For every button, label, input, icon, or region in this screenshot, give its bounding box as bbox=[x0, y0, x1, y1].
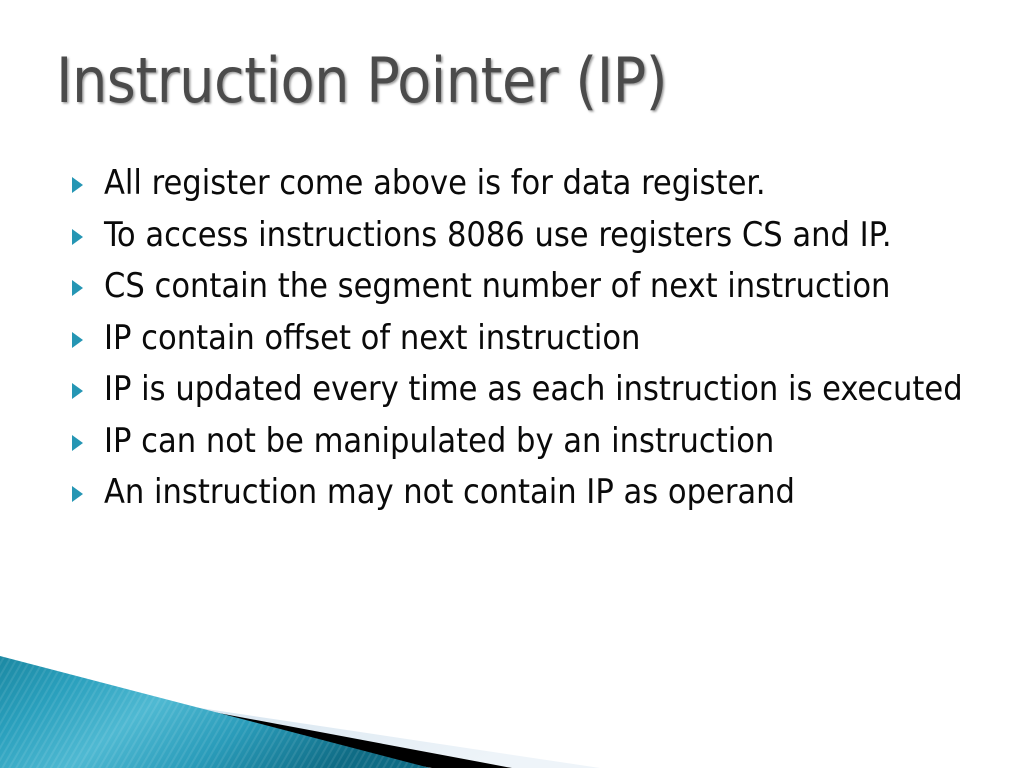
corner-decoration-svg bbox=[0, 638, 700, 768]
triangle-right-icon bbox=[72, 435, 83, 451]
triangle-right-icon bbox=[72, 280, 83, 296]
list-item: An instruction may not contain IP as ope… bbox=[62, 469, 992, 516]
list-item-label: IP can not be manipulated by an instruct… bbox=[104, 418, 992, 465]
list-item-label: CS contain the segment number of next in… bbox=[104, 263, 992, 310]
slide-canvas: Instruction Pointer (IP) All register co… bbox=[0, 0, 1024, 768]
list-item-label: To access instructions 8086 use register… bbox=[104, 212, 992, 259]
list-item: IP contain offset of next instruction bbox=[62, 315, 992, 362]
corner-decoration-graphic bbox=[0, 638, 700, 768]
black-stripe-shape bbox=[0, 672, 512, 768]
list-item: CS contain the segment number of next in… bbox=[62, 263, 992, 310]
triangle-right-icon bbox=[72, 177, 83, 193]
list-item-label: All register come above is for data regi… bbox=[104, 160, 992, 207]
list-item-label: IP is updated every time as each instruc… bbox=[104, 366, 992, 413]
list-item: All register come above is for data regi… bbox=[62, 160, 992, 207]
list-item-label: IP contain offset of next instruction bbox=[104, 315, 992, 362]
bullet-list: All register come above is for data regi… bbox=[62, 160, 992, 521]
triangle-right-icon bbox=[72, 383, 83, 399]
page-title: Instruction Pointer (IP) bbox=[56, 48, 956, 113]
teal-wedge-shape bbox=[0, 656, 430, 768]
triangle-right-icon bbox=[72, 486, 83, 502]
triangle-right-icon bbox=[72, 229, 83, 245]
list-item: IP can not be manipulated by an instruct… bbox=[62, 418, 992, 465]
list-item: IP is updated every time as each instruc… bbox=[62, 366, 992, 413]
triangle-right-icon bbox=[72, 332, 83, 348]
pale-wedge-shape bbox=[0, 678, 600, 768]
teal-wedge-texture bbox=[0, 656, 430, 768]
list-item: To access instructions 8086 use register… bbox=[62, 212, 992, 259]
list-item-label: An instruction may not contain IP as ope… bbox=[104, 469, 992, 516]
